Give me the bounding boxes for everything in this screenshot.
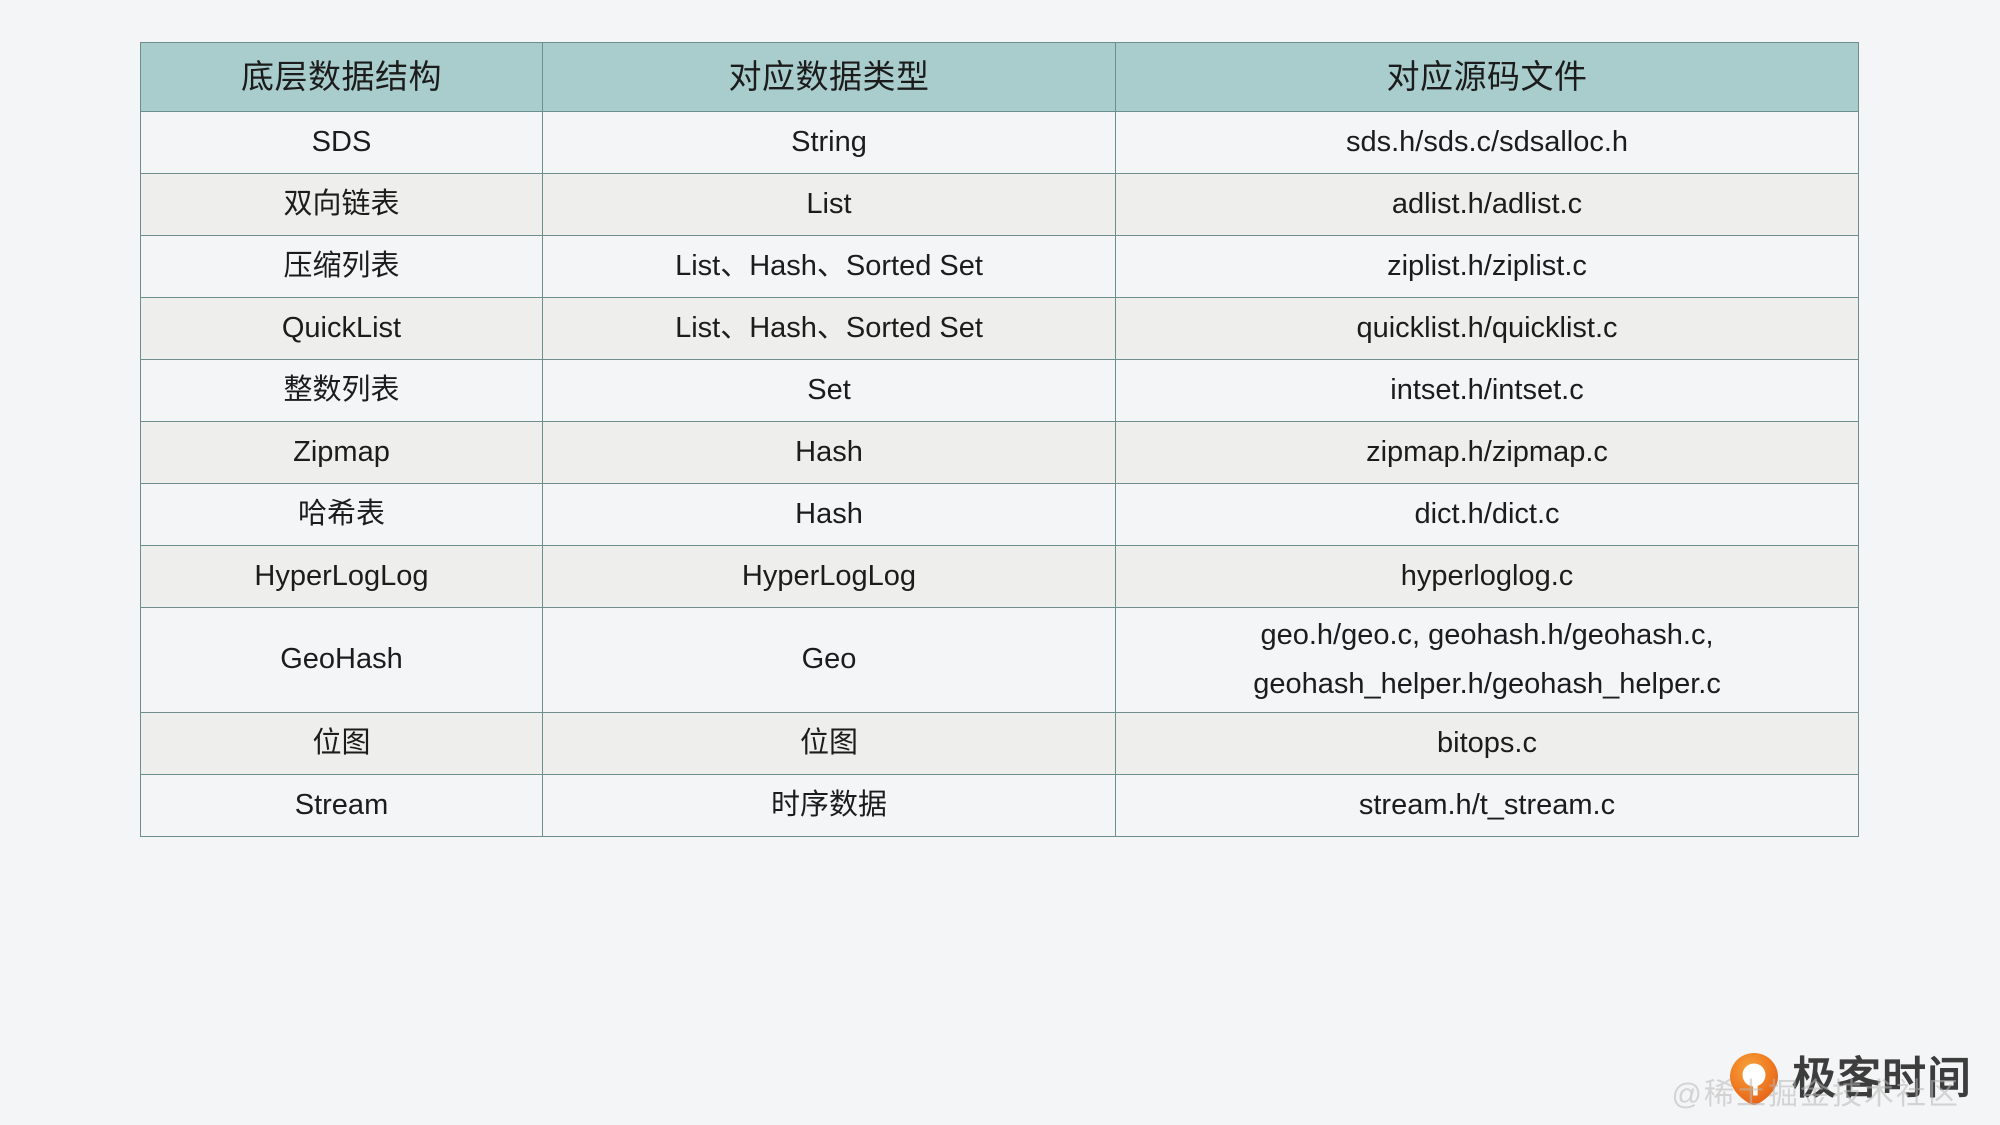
cell-type: Set [543, 360, 1116, 422]
cell-source-file: dict.h/dict.c [1116, 484, 1859, 546]
cell-type: List、Hash、Sorted Set [543, 236, 1116, 298]
table-row: 整数列表Setintset.h/intset.c [141, 360, 1859, 422]
cell-source-file-line: ziplist.h/ziplist.c [1116, 248, 1858, 285]
cell-source-file-line: bitops.c [1116, 725, 1858, 762]
cell-source-file-line: geo.h/geo.c, geohash.h/geohash.c, [1116, 617, 1858, 654]
cell-type: 位图 [543, 713, 1116, 775]
table-row: QuickListList、Hash、Sorted Setquicklist.h… [141, 298, 1859, 360]
cell-source-file-line: adlist.h/adlist.c [1116, 186, 1858, 223]
table-header: 底层数据结构 对应数据类型 对应源码文件 [141, 43, 1859, 112]
cell-structure: Stream [141, 775, 543, 837]
cell-source-file: zipmap.h/zipmap.c [1116, 422, 1859, 484]
cell-source-file-line: dict.h/dict.c [1116, 496, 1858, 533]
cell-type: Geo [543, 608, 1116, 713]
geektime-pin-logo-icon [1726, 1051, 1782, 1107]
cell-source-file: sds.h/sds.c/sdsalloc.h [1116, 112, 1859, 174]
cell-source-file-line: geohash_helper.h/geohash_helper.c [1116, 666, 1858, 703]
table-row: 双向链表Listadlist.h/adlist.c [141, 174, 1859, 236]
cell-structure: SDS [141, 112, 543, 174]
cell-type: Hash [543, 484, 1116, 546]
cell-source-file-line: sds.h/sds.c/sdsalloc.h [1116, 124, 1858, 161]
cell-type: HyperLogLog [543, 546, 1116, 608]
table-row: SDSStringsds.h/sds.c/sdsalloc.h [141, 112, 1859, 174]
data-structure-table-container: 底层数据结构 对应数据类型 对应源码文件 SDSStringsds.h/sds.… [140, 42, 1858, 837]
table-row: ZipmapHashzipmap.h/zipmap.c [141, 422, 1859, 484]
cell-structure: 哈希表 [141, 484, 543, 546]
table-row: Stream时序数据stream.h/t_stream.c [141, 775, 1859, 837]
cell-source-file: ziplist.h/ziplist.c [1116, 236, 1859, 298]
cell-structure: 双向链表 [141, 174, 543, 236]
cell-source-file: hyperloglog.c [1116, 546, 1859, 608]
brand-logo: 极客时间 [1726, 1051, 1972, 1107]
cell-type: String [543, 112, 1116, 174]
column-header-structure: 底层数据结构 [141, 43, 543, 112]
cell-source-file: geo.h/geo.c, geohash.h/geohash.c,geohash… [1116, 608, 1859, 713]
cell-structure: 位图 [141, 713, 543, 775]
cell-source-file: stream.h/t_stream.c [1116, 775, 1859, 837]
cell-type: Hash [543, 422, 1116, 484]
brand-name: 极客时间 [1792, 1057, 1972, 1101]
cell-source-file-line: hyperloglog.c [1116, 558, 1858, 595]
cell-source-file: quicklist.h/quicklist.c [1116, 298, 1859, 360]
table-row: 压缩列表List、Hash、Sorted Setziplist.h/ziplis… [141, 236, 1859, 298]
cell-type: List [543, 174, 1116, 236]
cell-structure: GeoHash [141, 608, 543, 713]
cell-source-file-line: stream.h/t_stream.c [1116, 787, 1858, 824]
cell-type: List、Hash、Sorted Set [543, 298, 1116, 360]
cell-source-file: bitops.c [1116, 713, 1859, 775]
table-row: HyperLogLogHyperLogLoghyperloglog.c [141, 546, 1859, 608]
table-row: 哈希表Hashdict.h/dict.c [141, 484, 1859, 546]
cell-structure: 整数列表 [141, 360, 543, 422]
cell-source-file: intset.h/intset.c [1116, 360, 1859, 422]
table-header-row: 底层数据结构 对应数据类型 对应源码文件 [141, 43, 1859, 112]
column-header-source: 对应源码文件 [1116, 43, 1859, 112]
data-structure-table: 底层数据结构 对应数据类型 对应源码文件 SDSStringsds.h/sds.… [140, 42, 1859, 837]
cell-structure: Zipmap [141, 422, 543, 484]
column-header-type: 对应数据类型 [543, 43, 1116, 112]
cell-structure: 压缩列表 [141, 236, 543, 298]
table-row: 位图位图bitops.c [141, 713, 1859, 775]
cell-structure: QuickList [141, 298, 543, 360]
cell-structure: HyperLogLog [141, 546, 543, 608]
cell-source-file-line: quicklist.h/quicklist.c [1116, 310, 1858, 347]
cell-source-file-line: intset.h/intset.c [1116, 372, 1858, 409]
table-body: SDSStringsds.h/sds.c/sdsalloc.h双向链表Lista… [141, 112, 1859, 837]
table-row: GeoHashGeogeo.h/geo.c, geohash.h/geohash… [141, 608, 1859, 713]
cell-source-file: adlist.h/adlist.c [1116, 174, 1859, 236]
cell-type: 时序数据 [543, 775, 1116, 837]
cell-source-file-line: zipmap.h/zipmap.c [1116, 434, 1858, 471]
